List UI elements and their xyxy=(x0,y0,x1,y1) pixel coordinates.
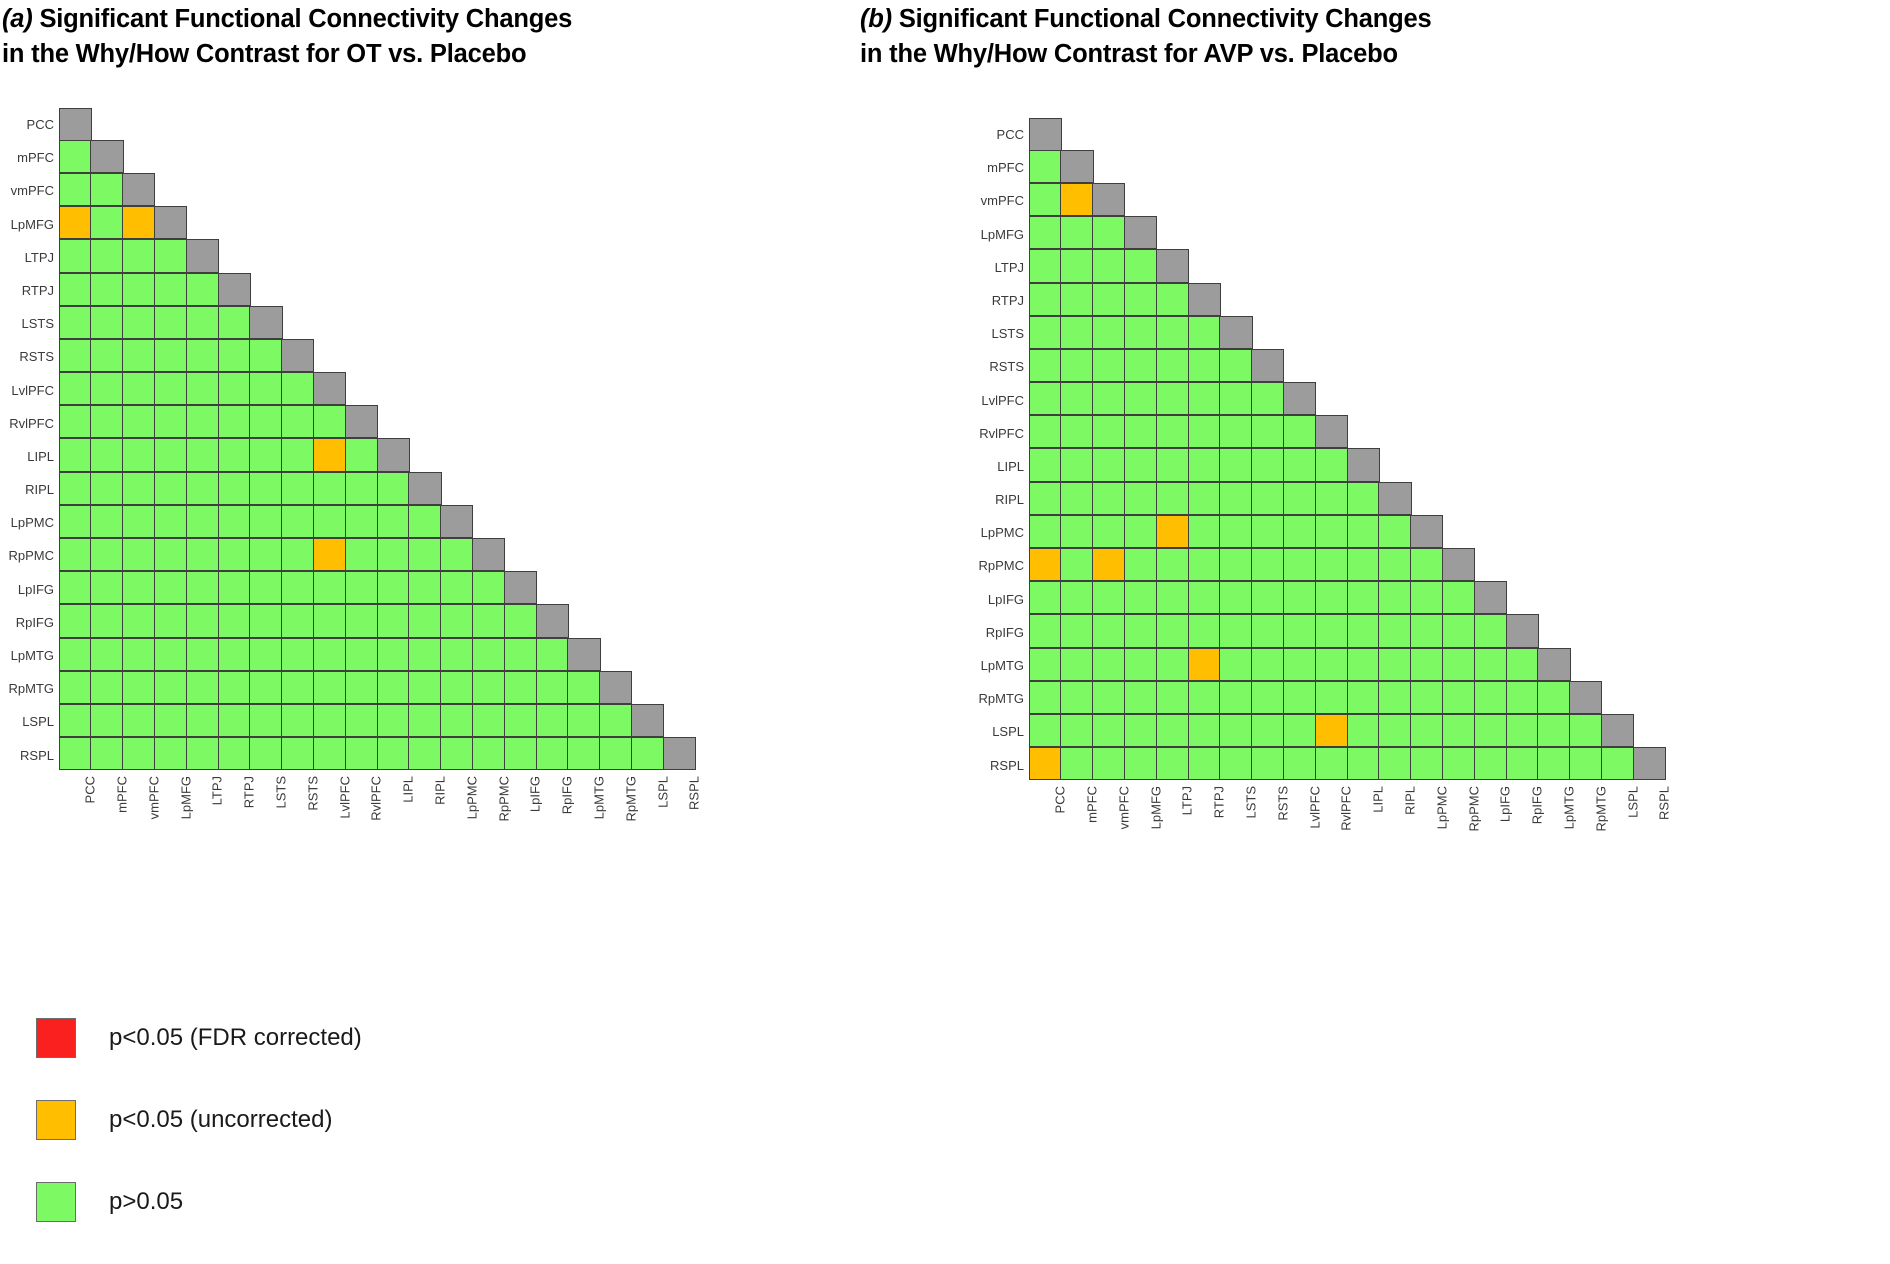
matrix-cell xyxy=(154,306,187,339)
matrix-cell-empty xyxy=(1378,249,1411,282)
matrix-cell-empty xyxy=(1506,349,1539,382)
matrix-cell-empty xyxy=(1251,183,1284,216)
matrix-cell xyxy=(154,671,187,704)
matrix-cell xyxy=(249,638,282,671)
matrix-cell xyxy=(90,472,123,505)
matrix-cell xyxy=(122,206,155,239)
matrix-cell xyxy=(59,571,92,604)
matrix-cell-empty xyxy=(345,273,378,306)
matrix-cell-empty xyxy=(567,472,600,505)
matrix-cell xyxy=(1219,382,1252,415)
matrix-cell xyxy=(1347,714,1380,747)
matrix-a-row-label-rpmtg: RpMTG xyxy=(0,672,60,705)
matrix-cell xyxy=(1506,681,1539,714)
matrix-a-col-label-pcc: PCC xyxy=(59,772,92,858)
matrix-cell xyxy=(1060,648,1093,681)
matrix-cell-empty xyxy=(567,571,600,604)
matrix-cell xyxy=(59,438,92,471)
matrix-cell xyxy=(1029,283,1062,316)
matrix-cell xyxy=(1315,681,1348,714)
matrix-cell xyxy=(408,472,441,505)
matrix-a-col-label-lspl: LSPL xyxy=(631,772,664,858)
matrix-cell-empty xyxy=(504,372,537,405)
matrix-b-row-label-ripl: RIPL xyxy=(970,483,1030,516)
matrix-cell-empty xyxy=(1410,482,1443,515)
matrix-cell-empty xyxy=(567,505,600,538)
matrix-b-col-label-vmpfc: vmPFC xyxy=(1092,782,1125,868)
matrix-cell xyxy=(59,372,92,405)
matrix-cell xyxy=(1060,382,1093,415)
matrix-cell xyxy=(1092,382,1125,415)
matrix-cell-empty xyxy=(1601,681,1634,714)
matrix-cell xyxy=(59,306,92,339)
matrix-cell-empty xyxy=(1442,515,1475,548)
matrix-cell xyxy=(1156,283,1189,316)
matrix-cell-empty xyxy=(1633,349,1666,382)
matrix-cell-empty xyxy=(1188,216,1221,249)
matrix-cell xyxy=(218,505,251,538)
matrix-cell xyxy=(1474,614,1507,647)
matrix-cell-empty xyxy=(1410,216,1443,249)
matrix-cell xyxy=(59,505,92,538)
matrix-cell xyxy=(59,339,92,372)
matrix-cell-empty xyxy=(1506,216,1539,249)
matrix-cell xyxy=(186,638,219,671)
matrix-cell-empty xyxy=(1442,150,1475,183)
matrix-cell xyxy=(249,704,282,737)
matrix-cell xyxy=(1156,614,1189,647)
matrix-cell xyxy=(1537,747,1570,780)
matrix-cell xyxy=(1219,448,1252,481)
matrix-b-col-label-rpifg: RpIFG xyxy=(1506,782,1539,868)
matrix-cell-empty xyxy=(567,405,600,438)
matrix-cell xyxy=(90,538,123,571)
matrix-b-col-label-lpmtg: LpMTG xyxy=(1537,782,1570,868)
matrix-cell xyxy=(249,737,282,770)
matrix-cell xyxy=(1347,581,1380,614)
matrix-a-col-label-vmpfc: vmPFC xyxy=(122,772,155,858)
matrix-cell-empty xyxy=(377,239,410,272)
matrix-cell-empty xyxy=(440,472,473,505)
matrix-cell xyxy=(1029,349,1062,382)
matrix-row: LIPL xyxy=(970,450,1666,483)
matrix-cell xyxy=(377,505,410,538)
matrix-cell-empty xyxy=(1569,614,1602,647)
legend-swatch-green xyxy=(36,1182,76,1222)
matrix-cell xyxy=(154,405,187,438)
matrix-cell xyxy=(122,273,155,306)
matrix-cell xyxy=(1251,648,1284,681)
matrix-cell xyxy=(1060,316,1093,349)
matrix-cell-empty xyxy=(504,538,537,571)
matrix-row: RSTS xyxy=(0,340,696,373)
matrix-cell xyxy=(90,339,123,372)
matrix-cell xyxy=(186,704,219,737)
matrix-cell-empty xyxy=(1315,382,1348,415)
matrix-cell-empty xyxy=(1537,183,1570,216)
matrix-cell xyxy=(154,239,187,272)
matrix-cell-empty xyxy=(504,273,537,306)
matrix-cell-empty xyxy=(1569,515,1602,548)
matrix-cell xyxy=(345,604,378,637)
matrix-cell xyxy=(1156,482,1189,515)
matrix-cell-empty xyxy=(1474,249,1507,282)
matrix-a-col-label-lppmc: LpPMC xyxy=(440,772,473,858)
matrix-cell xyxy=(122,538,155,571)
matrix-cell xyxy=(1219,548,1252,581)
matrix-cell-empty xyxy=(154,140,187,173)
matrix-cell xyxy=(377,538,410,571)
matrix-b-row-label-lspl: LSPL xyxy=(970,715,1030,748)
matrix-cell xyxy=(1283,714,1316,747)
matrix-cell-empty xyxy=(1219,150,1252,183)
matrix-cell-empty xyxy=(663,306,696,339)
matrix-cell xyxy=(1124,283,1157,316)
matrix-b-col-label-rpmtg: RpMTG xyxy=(1569,782,1602,868)
matrix-cell-empty xyxy=(663,638,696,671)
matrix-cell-empty xyxy=(1315,316,1348,349)
matrix-cell xyxy=(59,604,92,637)
matrix-cell xyxy=(1569,681,1602,714)
matrix-cell xyxy=(1315,548,1348,581)
matrix-cell xyxy=(1251,482,1284,515)
matrix-cell-empty xyxy=(1378,150,1411,183)
matrix-cell xyxy=(186,472,219,505)
matrix-cell xyxy=(1251,515,1284,548)
matrix-cell-empty xyxy=(1315,216,1348,249)
matrix-cell-empty xyxy=(1601,316,1634,349)
matrix-cell-empty xyxy=(1410,183,1443,216)
matrix-cell-empty xyxy=(1315,150,1348,183)
matrix-cell-empty xyxy=(1474,448,1507,481)
matrix-cell-empty xyxy=(1601,548,1634,581)
matrix-row: RpPMC xyxy=(970,549,1666,582)
matrix-cell-empty xyxy=(440,173,473,206)
matrix-cell-empty xyxy=(1188,249,1221,282)
matrix-cell xyxy=(1060,150,1093,183)
matrix-cell xyxy=(218,538,251,571)
matrix-cell-empty xyxy=(408,339,441,372)
matrix-cell-empty xyxy=(1537,382,1570,415)
matrix-a-row-label-rspl: RSPL xyxy=(0,739,60,772)
matrix-b-row-label-rsts: RSTS xyxy=(970,350,1030,383)
matrix-a-col-label-rtpj: RTPJ xyxy=(218,772,251,858)
matrix-cell-empty xyxy=(567,438,600,471)
matrix-row: LSTS xyxy=(0,307,696,340)
matrix-cell xyxy=(567,737,600,770)
matrix-cell-empty xyxy=(567,604,600,637)
matrix-cell xyxy=(1092,349,1125,382)
matrix-cell xyxy=(1124,316,1157,349)
matrix-cell xyxy=(1219,648,1252,681)
matrix-cell xyxy=(90,604,123,637)
matrix-cell-empty xyxy=(1410,349,1443,382)
matrix-cell xyxy=(504,704,537,737)
matrix-cell-empty xyxy=(377,306,410,339)
matrix-cell xyxy=(1124,581,1157,614)
matrix-cell xyxy=(631,737,664,770)
matrix-cell-empty xyxy=(472,140,505,173)
matrix-cell-empty xyxy=(472,173,505,206)
matrix-b-col-label-lppmc: LpPMC xyxy=(1410,782,1443,868)
matrix-cell xyxy=(1060,249,1093,282)
matrix-cell xyxy=(1251,448,1284,481)
matrix-cell xyxy=(1092,283,1125,316)
matrix-cell xyxy=(1124,614,1157,647)
matrix-cell xyxy=(249,538,282,571)
matrix-cell-empty xyxy=(1219,183,1252,216)
matrix-b-col-label-rsts: RSTS xyxy=(1251,782,1284,868)
matrix-cell-empty xyxy=(599,339,632,372)
matrix-cell-empty xyxy=(567,372,600,405)
matrix-cell-empty xyxy=(408,173,441,206)
matrix-cell-empty xyxy=(663,472,696,505)
matrix-cell-empty xyxy=(1506,415,1539,448)
matrix-cell-empty xyxy=(631,638,664,671)
matrix-cell-empty xyxy=(1442,283,1475,316)
matrix-cell-empty xyxy=(1569,382,1602,415)
matrix-b-col-label-mpfc: mPFC xyxy=(1060,782,1093,868)
matrix-cell xyxy=(154,273,187,306)
matrix-cell-empty xyxy=(122,140,155,173)
matrix-cell xyxy=(1188,648,1221,681)
matrix-cell-empty xyxy=(1601,382,1634,415)
matrix-cell-empty xyxy=(1474,283,1507,316)
matrix-cell xyxy=(186,306,219,339)
matrix-cell xyxy=(90,372,123,405)
matrix-cell-empty xyxy=(1633,216,1666,249)
matrix-cell-empty xyxy=(472,273,505,306)
matrix-cell-empty xyxy=(281,173,314,206)
matrix-b-row-label-vmpfc: vmPFC xyxy=(970,184,1030,217)
matrix-cell xyxy=(1474,581,1507,614)
matrix-cell xyxy=(59,206,92,239)
matrix-cell-empty xyxy=(599,571,632,604)
matrix-cell xyxy=(1124,747,1157,780)
matrix-cell xyxy=(122,239,155,272)
matrix-cell-empty xyxy=(1219,118,1252,151)
matrix-cell xyxy=(1029,482,1062,515)
matrix-cell xyxy=(1156,747,1189,780)
matrix-cell-empty xyxy=(1506,482,1539,515)
matrix-cell-empty xyxy=(90,108,123,141)
matrix-row: LvlPFC xyxy=(970,384,1666,417)
matrix-cell-empty xyxy=(1633,714,1666,747)
matrix-cell xyxy=(408,505,441,538)
matrix-cell xyxy=(1124,482,1157,515)
matrix-cell-empty xyxy=(186,206,219,239)
matrix-cell xyxy=(186,737,219,770)
matrix-cell xyxy=(1219,614,1252,647)
matrix-cell xyxy=(1156,648,1189,681)
matrix-cell xyxy=(1124,714,1157,747)
matrix-cell xyxy=(1188,382,1221,415)
matrix-cell-empty xyxy=(1569,349,1602,382)
matrix-cell-empty xyxy=(663,372,696,405)
matrix-cell-empty xyxy=(1060,118,1093,151)
matrix-cell-empty xyxy=(218,173,251,206)
matrix-cell xyxy=(1410,747,1443,780)
matrix-cell-empty xyxy=(1537,581,1570,614)
matrix-cell-empty xyxy=(1633,581,1666,614)
matrix-cell xyxy=(1283,482,1316,515)
matrix-row: RSPL xyxy=(0,739,696,772)
matrix-cell xyxy=(1347,681,1380,714)
matrix-cell xyxy=(1347,614,1380,647)
matrix-cell xyxy=(1442,714,1475,747)
matrix-b-col-label-lsts: LSTS xyxy=(1219,782,1252,868)
matrix-cell-empty xyxy=(313,206,346,239)
matrix-cell-empty xyxy=(377,372,410,405)
matrix-cell-empty xyxy=(1442,316,1475,349)
matrix-cell-empty xyxy=(599,206,632,239)
matrix-b-col-label-ltpj: LTPJ xyxy=(1156,782,1189,868)
matrix-cell-empty xyxy=(599,604,632,637)
legend-label-red: p<0.05 (FDR corrected) xyxy=(109,1024,362,1052)
matrix-cell xyxy=(1188,316,1221,349)
matrix-cell-empty xyxy=(1506,316,1539,349)
matrix-a-col-label-ripl: RIPL xyxy=(408,772,441,858)
matrix-cell xyxy=(218,737,251,770)
matrix-cell-empty xyxy=(218,239,251,272)
matrix-cell-empty xyxy=(472,306,505,339)
matrix-cell xyxy=(536,671,569,704)
matrix-cell xyxy=(122,571,155,604)
matrix-cell xyxy=(599,671,632,704)
matrix-cell xyxy=(186,604,219,637)
matrix-cell-empty xyxy=(567,339,600,372)
matrix-cell-empty xyxy=(1506,183,1539,216)
matrix-cell xyxy=(1347,648,1380,681)
matrix-cell xyxy=(472,571,505,604)
matrix-cell xyxy=(281,538,314,571)
matrix-b-col-label-lspl: LSPL xyxy=(1601,782,1634,868)
matrix-row: PCC xyxy=(970,118,1666,151)
matrix-cell xyxy=(1188,548,1221,581)
matrix-cell xyxy=(1347,548,1380,581)
matrix-cell xyxy=(504,638,537,671)
matrix-cell xyxy=(1537,681,1570,714)
matrix-cell-empty xyxy=(1633,118,1666,151)
matrix-a-row-label-lpmfg: LpMFG xyxy=(0,208,60,241)
matrix-cell xyxy=(1029,714,1062,747)
matrix-cell xyxy=(377,638,410,671)
matrix-cell xyxy=(154,638,187,671)
matrix-cell xyxy=(440,538,473,571)
matrix-cell xyxy=(249,571,282,604)
matrix-cell-empty xyxy=(631,405,664,438)
matrix-cell xyxy=(472,704,505,737)
matrix-a-col-label-lipl: LIPL xyxy=(377,772,410,858)
matrix-cell xyxy=(1410,548,1443,581)
matrix-cell-empty xyxy=(408,239,441,272)
matrix-cell-empty xyxy=(1601,249,1634,282)
matrix-cell xyxy=(281,505,314,538)
legend-label-green: p>0.05 xyxy=(109,1188,183,1216)
matrix-cell xyxy=(1188,681,1221,714)
matrix-cell-empty xyxy=(504,438,537,471)
matrix-cell xyxy=(1156,316,1189,349)
matrix-cell xyxy=(1378,581,1411,614)
matrix-cell-empty xyxy=(345,339,378,372)
matrix-cell-empty xyxy=(122,108,155,141)
matrix-cell-empty xyxy=(1537,548,1570,581)
matrix-cell xyxy=(249,438,282,471)
matrix-cell-empty xyxy=(1537,316,1570,349)
matrix-cell-empty xyxy=(1124,183,1157,216)
matrix-cell xyxy=(90,571,123,604)
matrix-cell xyxy=(1315,648,1348,681)
panel-b-label: (b) xyxy=(860,5,892,33)
matrix-cell xyxy=(1315,614,1348,647)
matrix-cell-empty xyxy=(408,372,441,405)
matrix-cell xyxy=(1474,747,1507,780)
matrix-cell xyxy=(1601,714,1634,747)
matrix-cell-empty xyxy=(1537,614,1570,647)
matrix-cell xyxy=(1029,681,1062,714)
matrix-cell-empty xyxy=(1537,448,1570,481)
matrix-cell xyxy=(313,472,346,505)
matrix-cell xyxy=(504,671,537,704)
matrix-cell xyxy=(186,273,219,306)
matrix-cell-empty xyxy=(472,405,505,438)
matrix-cell-empty xyxy=(1219,249,1252,282)
matrix-cell xyxy=(1092,249,1125,282)
matrix-cell xyxy=(440,604,473,637)
matrix-cell-empty xyxy=(1378,183,1411,216)
matrix-cell-empty xyxy=(631,671,664,704)
matrix-cell xyxy=(1378,648,1411,681)
matrix-b-row-label-lipl: LIPL xyxy=(970,450,1030,483)
matrix-cell-empty xyxy=(472,108,505,141)
matrix-cell-empty xyxy=(631,372,664,405)
matrix-cell xyxy=(281,737,314,770)
matrix-cell xyxy=(1092,448,1125,481)
matrix-cell-empty xyxy=(1633,448,1666,481)
matrix-cell xyxy=(122,306,155,339)
matrix-row: vmPFC xyxy=(970,184,1666,217)
matrix-cell-empty xyxy=(408,405,441,438)
matrix-cell xyxy=(59,239,92,272)
matrix-cell xyxy=(1156,249,1189,282)
matrix-cell-empty xyxy=(567,306,600,339)
matrix-cell xyxy=(1188,415,1221,448)
matrix-cell-empty xyxy=(440,339,473,372)
matrix-cell xyxy=(472,604,505,637)
matrix-cell xyxy=(154,206,187,239)
matrix-cell-empty xyxy=(1537,349,1570,382)
matrix-cell-empty xyxy=(1347,283,1380,316)
matrix-cell xyxy=(281,671,314,704)
matrix-cell-empty xyxy=(1569,283,1602,316)
matrix-cell-empty xyxy=(599,438,632,471)
matrix-cell-empty xyxy=(663,405,696,438)
matrix-cell-empty xyxy=(472,472,505,505)
matrix-cell xyxy=(345,704,378,737)
matrix-a-x-axis: PCCmPFCvmPFCLpMFGLTPJRTPJLSTSRSTSLvlPFCR… xyxy=(0,772,696,858)
matrix-cell xyxy=(345,638,378,671)
matrix-b-col-label-lpifg: LpIFG xyxy=(1474,782,1507,868)
matrix-cell xyxy=(90,638,123,671)
matrix-cell-empty xyxy=(1188,118,1221,151)
matrix-cell-empty xyxy=(1442,249,1475,282)
matrix-cell xyxy=(1060,548,1093,581)
matrix-cell xyxy=(1029,316,1062,349)
matrix-cell xyxy=(440,571,473,604)
matrix-cell xyxy=(1474,714,1507,747)
matrix-cell xyxy=(1251,415,1284,448)
matrix-cell xyxy=(59,140,92,173)
